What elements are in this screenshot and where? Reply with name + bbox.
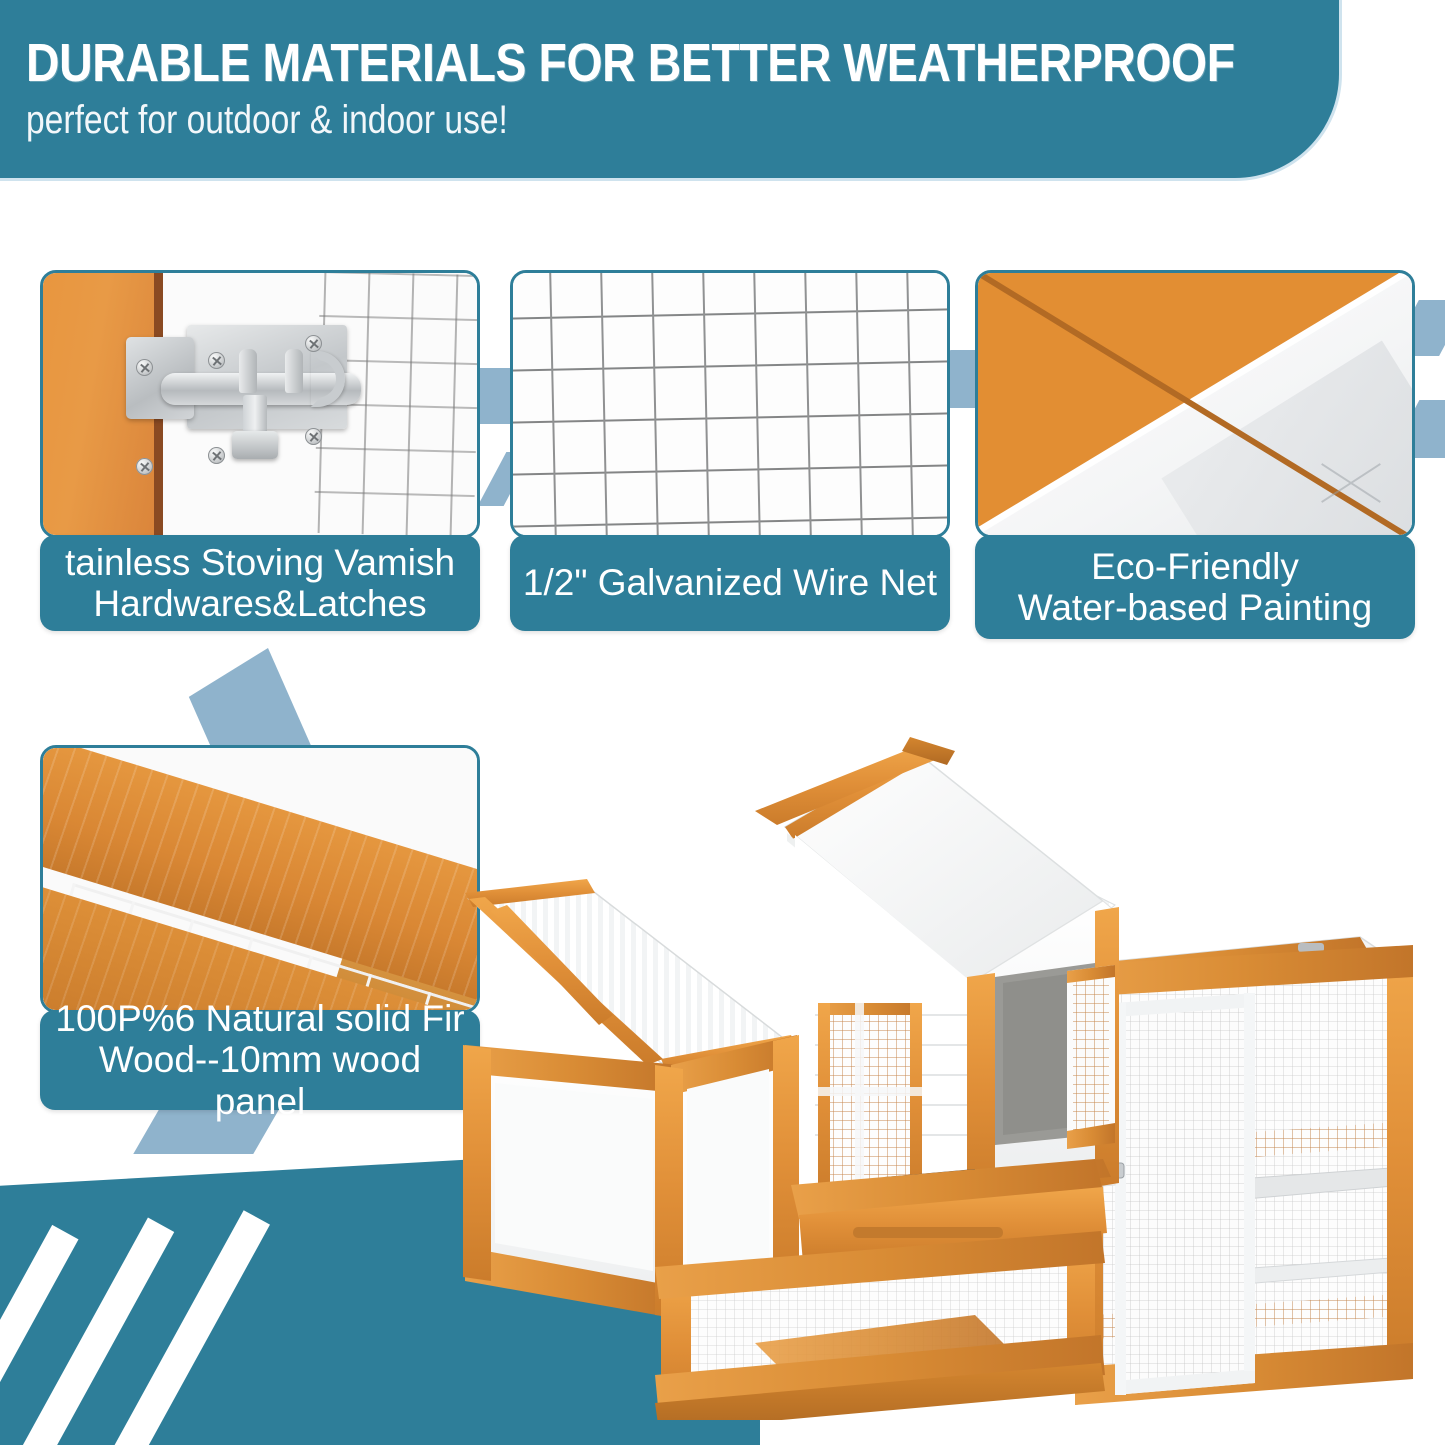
screw-icon (305, 428, 322, 445)
screw-icon (136, 359, 153, 376)
caption-line-2: Water-based Painting (1018, 587, 1372, 628)
coop-house (755, 737, 1119, 1205)
caption-latch: tainless Stoving Vamish Hardwares&Latche… (40, 535, 480, 631)
coop-run-door (1100, 993, 1255, 1395)
header-banner: DURABLE MATERIALS FOR BETTER WEATHERPROO… (0, 0, 1339, 178)
caption-fir-wood: 100P%6 Natural solid Fir Wood--10mm wood… (40, 1010, 480, 1110)
caption-wire-net: 1/2" Galvanized Wire Net (510, 535, 950, 631)
screw-icon (305, 335, 322, 352)
feature-photo-latch (40, 270, 480, 538)
caption-line-1: tainless Stoving Vamish (65, 542, 455, 583)
feature-photo-painting (975, 270, 1415, 538)
feature-photo-wire-net (510, 270, 950, 538)
latch-knob (243, 395, 267, 445)
caption-line-2: Wood--10mm wood panel (50, 1039, 470, 1122)
caption-painting: Eco-Friendly Water-based Painting (975, 535, 1415, 639)
coop-right-run (1075, 937, 1413, 1405)
latch-wing-left (239, 349, 257, 393)
screw-icon (208, 352, 225, 369)
caption-line-1: Eco-Friendly (1018, 546, 1372, 587)
caption-line-1: 100P%6 Natural solid Fir (50, 998, 470, 1039)
latch-wing-right (285, 349, 303, 393)
coop-nesting-door-open (1067, 965, 1115, 1149)
product-photo-chicken-coop (455, 715, 1415, 1420)
coop-front-mesh-door (818, 1003, 922, 1199)
photo-x-mark (1316, 447, 1386, 517)
screw-icon (208, 447, 225, 464)
feature-photo-fir-wood (40, 745, 480, 1013)
caption-line-1: 1/2" Galvanized Wire Net (523, 562, 937, 603)
screw-icon (136, 458, 153, 475)
caption-line-2: Hardwares&Latches (65, 583, 455, 624)
page-subtitle: perfect for outdoor & indoor use! (26, 98, 508, 143)
coop-nest-box (463, 879, 799, 1319)
photo-galvanized-mesh (510, 270, 950, 538)
page-title: DURABLE MATERIALS FOR BETTER WEATHERPROO… (26, 32, 1235, 94)
